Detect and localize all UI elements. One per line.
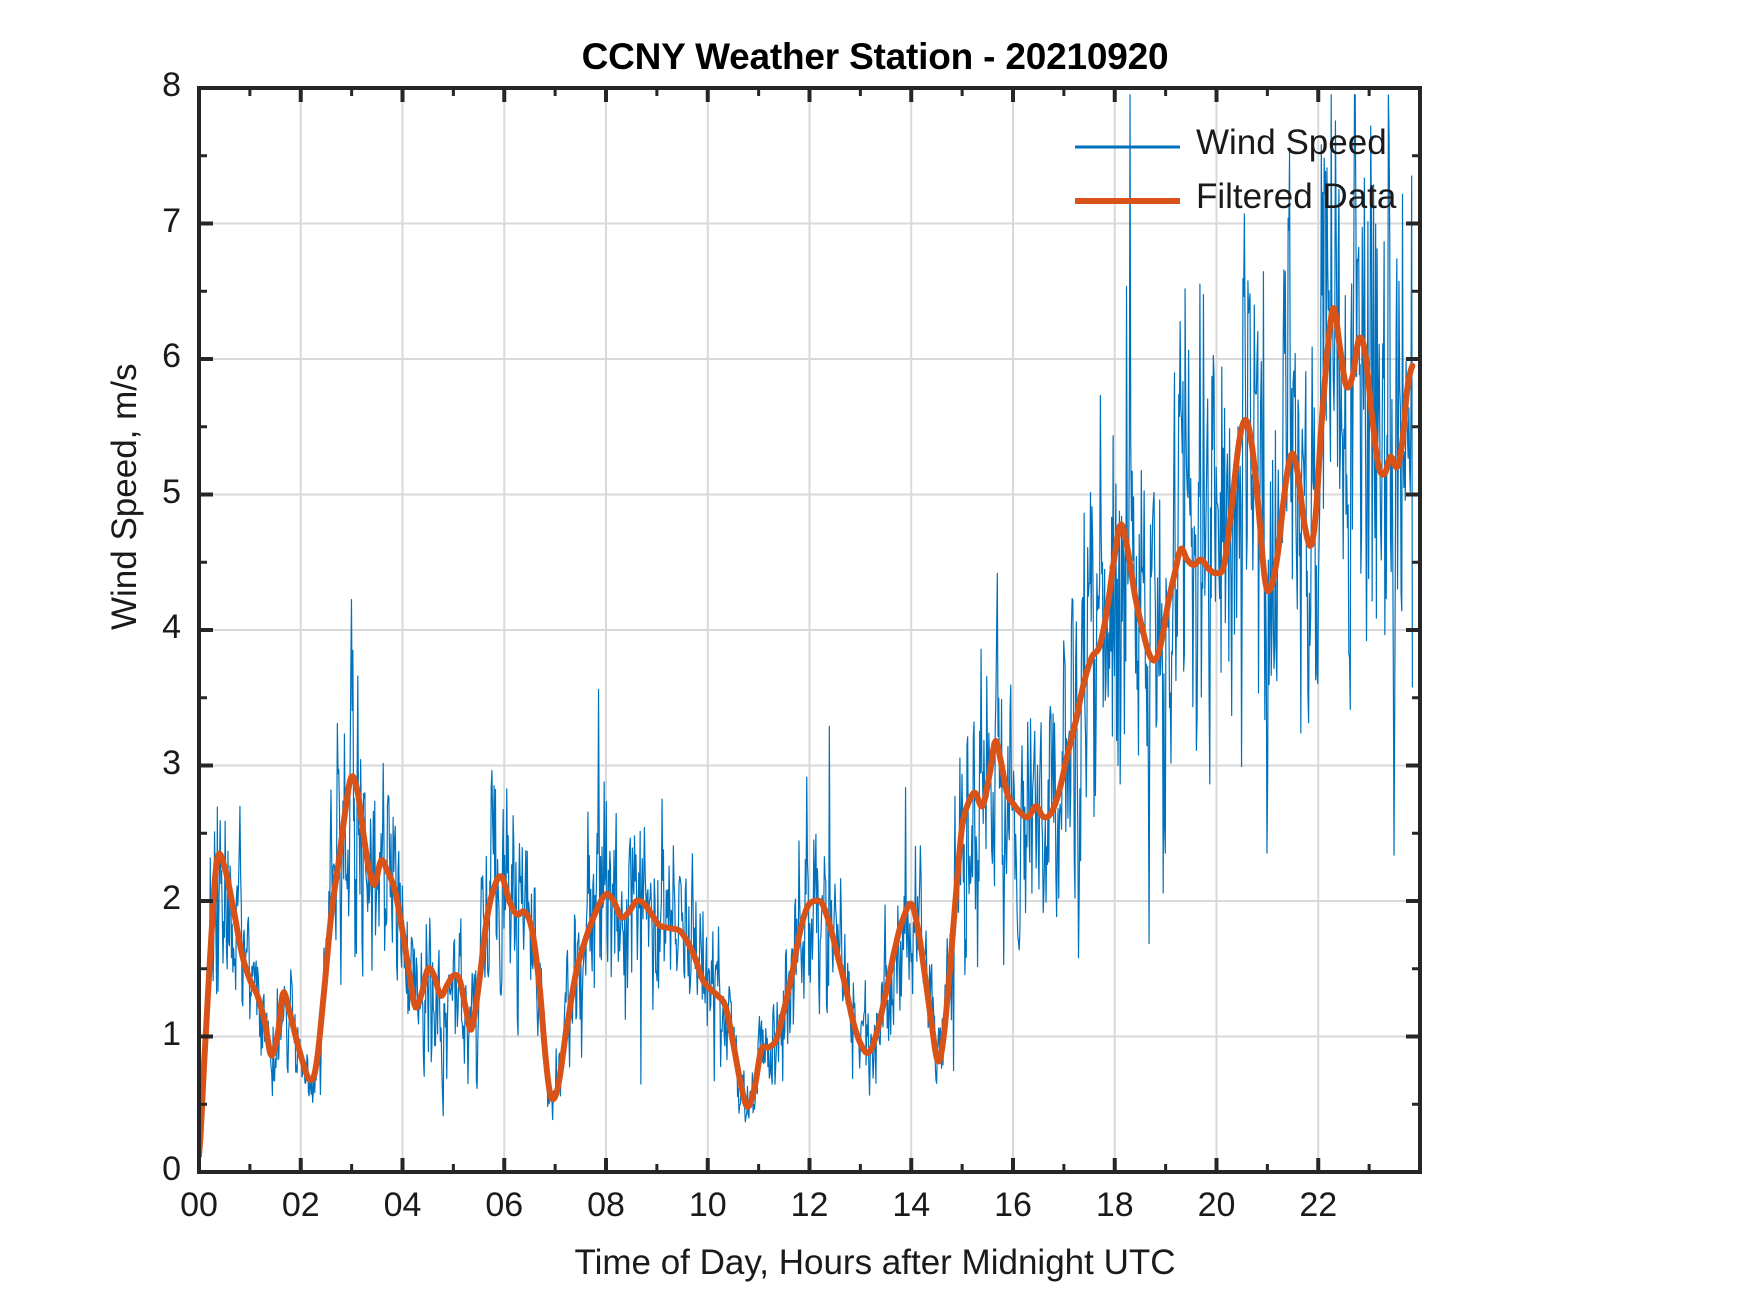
y-tick-label: 2 [121,879,181,918]
plot-area [0,0,1750,1313]
chart-figure: CCNY Weather Station - 20210920 Wind Spe… [0,0,1750,1313]
y-tick-label: 1 [121,1015,181,1054]
x-tick-label: 10 [668,1186,748,1225]
x-tick-label: 18 [1075,1186,1155,1225]
y-tick-label: 7 [121,202,181,241]
x-tick-label: 02 [261,1186,341,1225]
x-tick-label: 16 [973,1186,1053,1225]
x-tick-label: 04 [363,1186,443,1225]
legend-label-1: Wind Speed [1196,123,1387,163]
x-tick-label: 22 [1278,1186,1358,1225]
y-tick-label: 8 [121,66,181,105]
y-tick-label: 4 [121,608,181,647]
x-tick-label: 12 [770,1186,850,1225]
x-tick-label: 20 [1177,1186,1257,1225]
y-tick-label: 5 [121,473,181,512]
x-tick-label: 08 [566,1186,646,1225]
x-tick-label: 06 [464,1186,544,1225]
x-axis-title: Time of Day, Hours after Midnight UTC [0,1243,1750,1283]
y-tick-label: 6 [121,337,181,376]
legend-label-2: Filtered Data [1196,177,1396,217]
y-tick-label: 0 [121,1150,181,1189]
x-tick-label: 00 [159,1186,239,1225]
y-tick-label: 3 [121,744,181,783]
x-tick-label: 14 [871,1186,951,1225]
